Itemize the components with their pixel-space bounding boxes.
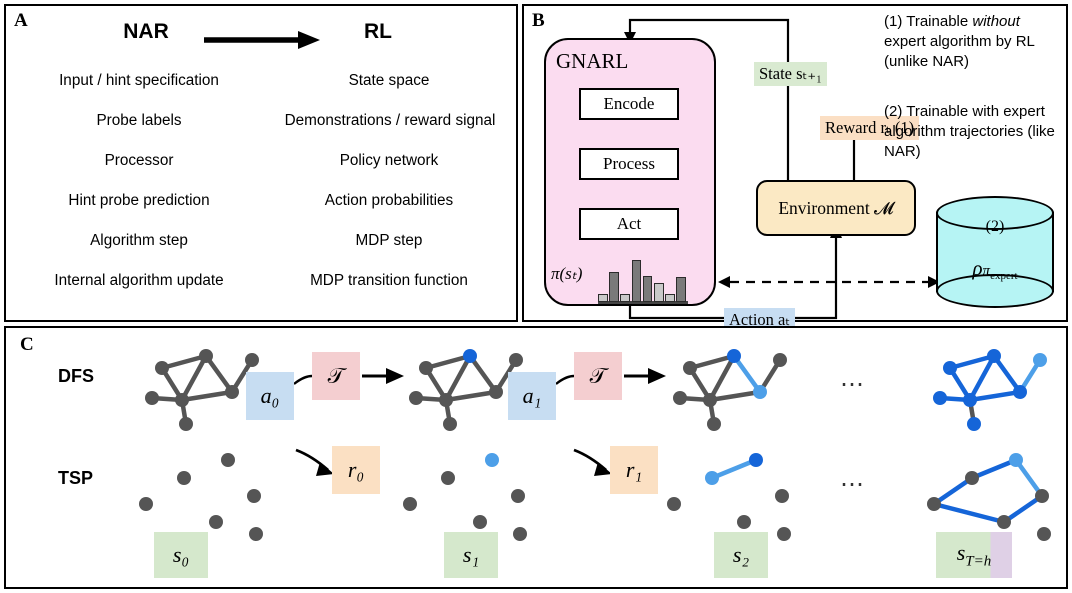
panel-a-row-5-nar: Internal algorithm update [14,272,264,290]
histogram-bar-2 [620,294,630,302]
panel-a-row-3-nar: Hint probe prediction [14,192,264,210]
action-to-transition-link-1 [556,376,574,384]
graph-edge [162,356,206,368]
graph-node [179,417,193,431]
tsp-node [511,489,525,503]
histogram-bar-6 [665,294,675,302]
graph-node [245,353,259,367]
tsp-node [1035,489,1049,503]
histogram-bar-7 [676,277,686,302]
tsp-node [927,497,941,511]
tsp-edge [712,460,756,478]
graph-node [509,353,523,367]
tsp-points-s1 [403,453,527,541]
graph-node [967,417,981,431]
graph-edge [734,356,760,392]
state-tag: State sₜ₊₁ [754,62,827,86]
tsp-node [997,515,1011,529]
panel-c-letter: C [20,334,34,356]
state-box-2: s₂ [714,532,768,578]
graph-node [443,417,457,431]
graph-edge [162,368,182,400]
histogram-bar-1 [609,272,619,302]
graph-edge [680,398,710,400]
tsp-node [737,515,751,529]
tsp-node [247,489,261,503]
graph-edge [970,392,1020,400]
state-box-terminal: sT=h [936,532,1012,578]
tsp-node [249,527,263,541]
action-box-1: a₁ [508,372,556,420]
graph-node [409,391,423,405]
environment-box: Environment 𝓜 [756,180,916,236]
graph-node [933,391,947,405]
tsp-points-s0 [139,453,263,541]
histogram-bar-3 [632,260,642,302]
histogram-bar-5 [654,283,664,302]
graph-node [707,417,721,431]
graph-edge [1020,360,1040,392]
panel-c-row-label-tsp: TSP [58,468,93,489]
panel-b-letter: B [532,10,545,32]
dfs-graph-s0 [145,349,259,431]
tsp-node [403,497,417,511]
graph-node [419,361,433,375]
graph-edge [710,392,760,400]
tsp-edge [934,504,1004,522]
reward-arrow-1 [574,450,606,470]
stage-encode: Encode [579,88,679,120]
graph-node [1013,385,1027,399]
graph-edge [416,398,446,400]
graph-edge [950,368,970,400]
tsp-node [965,471,979,485]
graph-edge [206,356,232,392]
panel-b-note-2: (2) Trainable with expert algorithm traj… [884,102,1064,161]
graph-edge [470,356,496,392]
gnarl-label: GNARL [556,49,628,74]
reward-box-0: r₀ [332,446,380,494]
transition-box-0: 𝒯 [312,352,360,400]
dfs-graph-sT [933,349,1047,431]
graph-edge [940,398,970,400]
stage-act: Act [579,208,679,240]
action-probability-histogram [598,258,688,306]
tsp-node [775,489,789,503]
reward-arrow-0 [296,450,328,470]
ellipsis-tsp: ⋯ [840,470,867,499]
figure-root: A NAR RL Input / hint specification Stat… [0,0,1072,593]
graph-node [753,385,767,399]
graph-edge [182,392,232,400]
tsp-node [513,527,527,541]
tsp-node [209,515,223,529]
graph-edge [426,368,446,400]
expert-trajectory-database: (2) ρπexpert [936,196,1054,308]
graph-edge [970,400,974,424]
panel-a-row-5-rl: MDP transition function [264,272,514,290]
transition-arrowhead-1 [648,368,666,384]
panel-a-row-4-nar: Algorithm step [14,232,264,250]
transition-arrowhead-0 [386,368,404,384]
tsp-node [485,453,499,467]
graph-edge [710,400,714,424]
tsp-node [441,471,455,485]
tsp-edge [972,460,1016,478]
right-arrow-icon [202,26,322,54]
tsp-edge [1016,460,1042,496]
policy-label: π(sₜ) [551,264,582,284]
panel-b-note-1: (1) Trainable without expert algorithm b… [884,12,1064,71]
tsp-node [177,471,191,485]
stage-process: Process [579,148,679,180]
tsp-edge [1004,496,1042,522]
tsp-node [749,453,763,467]
panel-b: B GNARL Encode Pro [522,4,1068,322]
graph-node [463,349,477,363]
tsp-node [221,453,235,467]
graph-edge [182,356,206,400]
panel-a: A NAR RL Input / hint specification Stat… [4,4,518,322]
ellipsis-dfs: ⋯ [840,370,867,399]
tsp-points-sT [927,453,1051,541]
tsp-node [139,497,153,511]
graph-node [489,385,503,399]
panel-c-row-label-dfs: DFS [58,366,94,387]
state-box-0: s₀ [154,532,208,578]
graph-node [225,385,239,399]
panel-a-row-1-rl: Demonstrations / reward signal [262,112,518,130]
tsp-node [473,515,487,529]
graph-node [727,349,741,363]
tsp-points-s2 [667,453,791,541]
panel-a-row-0-nar: Input / hint specification [14,72,264,90]
panel-a-letter: A [14,10,28,32]
histogram-bar-0 [598,294,608,302]
graph-edge [760,360,780,392]
reward-box-1: r₁ [610,446,658,494]
state-box-terminal-label: sT=h [957,540,992,570]
panel-a-row-1-nar: Probe labels [14,112,264,130]
tsp-node [1037,527,1051,541]
graph-edge [690,368,710,400]
action-to-transition-link-0 [294,376,312,384]
tsp-node [777,527,791,541]
panel-c: C DFS TSP a₀ 𝒯 r₀ a₁ 𝒯 r₁ ⋯ ⋯ s₀ s₁ s₂ s… [4,326,1068,589]
graph-node [199,349,213,363]
graph-node [155,361,169,375]
tsp-edge [934,478,972,504]
panel-a-row-2-nar: Processor [14,152,264,170]
tsp-node [1009,453,1023,467]
state-box-1: s₁ [444,532,498,578]
graph-node [773,353,787,367]
transition-box-1: 𝒯 [574,352,622,400]
dfs-graph-s1 [409,349,523,431]
graph-edge [446,400,450,424]
graph-edge [690,356,734,368]
panel-a-row-3-rl: Action probabilities [264,192,514,210]
graph-node [683,361,697,375]
graph-node [987,349,1001,363]
note-1-post: expert algorithm by RL (unlike NAR) [884,33,1034,70]
graph-node [175,393,189,407]
panel-a-row-2-rl: Policy network [264,152,514,170]
database-footnote-number: (2) [936,218,1054,236]
tsp-node [667,497,681,511]
graph-edge [152,398,182,400]
graph-node [145,391,159,405]
graph-edge [710,356,734,400]
graph-edge [950,356,994,368]
graph-edge [994,356,1020,392]
graph-node [439,393,453,407]
histogram-bar-4 [643,276,653,302]
graph-edge [446,392,496,400]
panel-a-row-4-rl: MDP step [264,232,514,250]
graph-edge [182,400,186,424]
tsp-node [705,471,719,485]
graph-node [943,361,957,375]
graph-edge [426,356,470,368]
graph-edge [970,356,994,400]
graph-node [673,391,687,405]
graph-edge [446,356,470,400]
note-1-pre: (1) Trainable [884,13,972,30]
note-1-emphasis: without [972,13,1020,30]
graph-node [963,393,977,407]
dfs-graph-s2 [673,349,787,431]
panel-a-row-0-rl: State space [264,72,514,90]
database-label: ρπexpert [936,256,1054,282]
graph-node [703,393,717,407]
action-box-0: a₀ [246,372,294,420]
graph-node [1033,353,1047,367]
